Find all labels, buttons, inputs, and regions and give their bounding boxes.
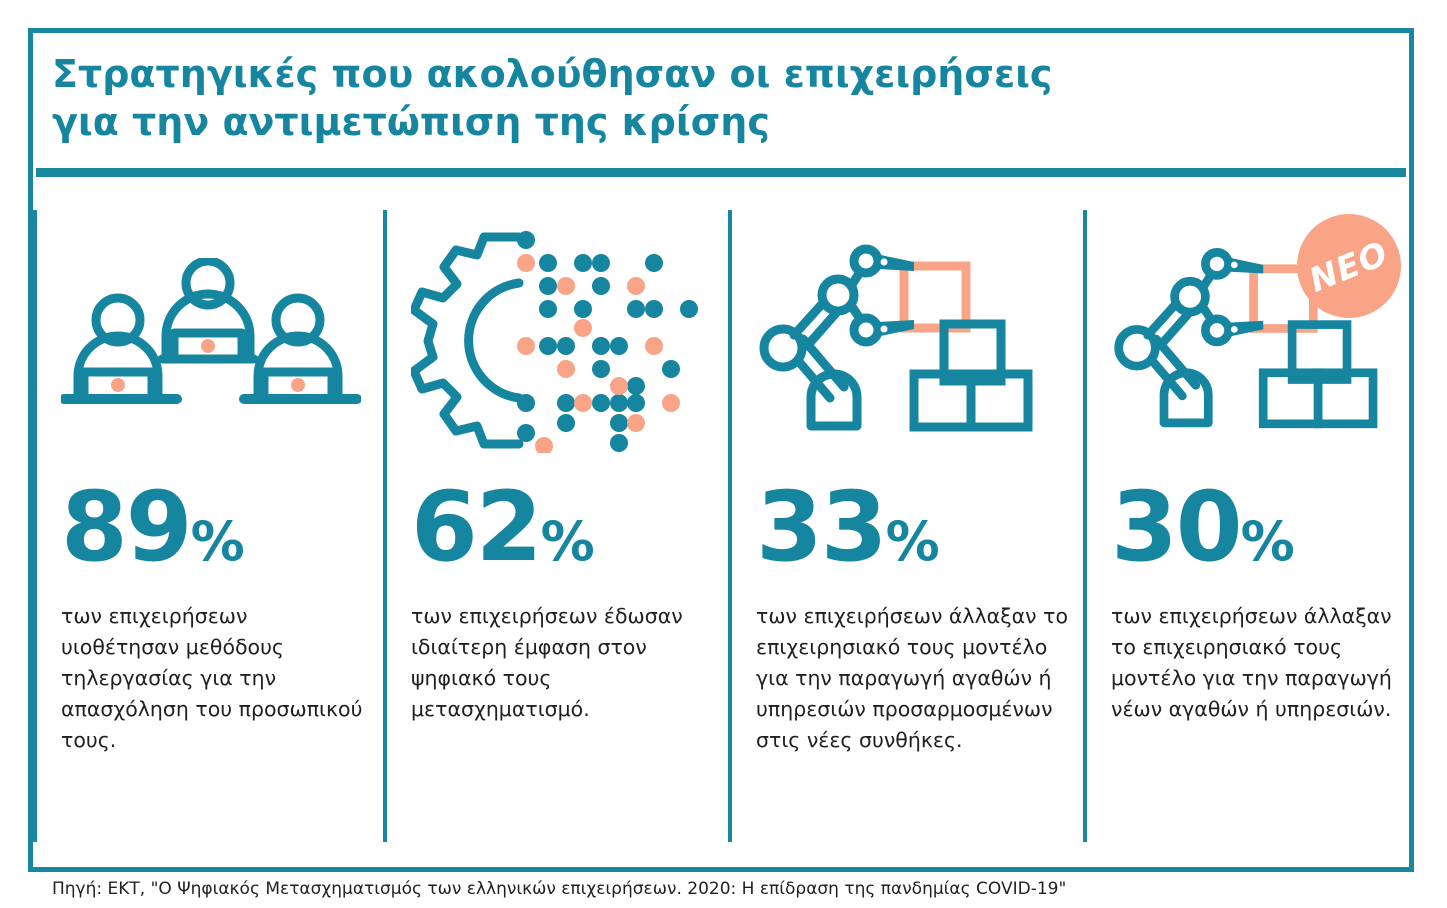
column-divider [1083,210,1087,842]
stat-caption: των επιχειρήσεων υιοθέτησαν μεθόδους τηλ… [61,601,369,756]
infographic-page: Στρατηγικές που ακολούθησαν οι επιχειρήσ… [0,0,1447,908]
stat-number: 62 [411,471,541,583]
column-divider [383,210,387,842]
statistics-columns: 89% των επιχειρήσεων υιοθέτησαν μεθόδους… [33,205,1414,845]
stat-number: 33 [756,471,886,583]
people-with-laptops-icon [61,205,369,475]
source-note: Πηγή: ΕΚΤ, "Ο Ψηφιακός Μετασχηματισμός τ… [52,879,1066,899]
title-line-2: για την αντιμετώπιση της κρίσης [52,98,1052,146]
stat-caption: των επιχειρήσεων άλλαξαν το επιχειρησιακ… [1111,601,1400,725]
stat-number: 89 [61,471,191,583]
neo-badge: ΝΕΟ [1297,214,1401,318]
robot-arm-stacking-boxes-new-icon: ΝΕΟ [1111,205,1400,475]
stat-percent-sign: % [541,510,594,573]
title-underline-rule [36,168,1406,177]
stat-percent-sign: % [1241,510,1294,573]
gear-dissolving-into-dots-icon [411,205,714,475]
stat-value: 30% [1111,479,1400,575]
stat-caption: των επιχειρήσεων έδωσαν ιδιαίτερη έμφαση… [411,601,714,725]
stat-value: 89% [61,479,369,575]
stat-column-new-goods: ΝΕΟ [1083,205,1414,845]
stat-number: 30 [1111,471,1241,583]
stat-percent-sign: % [886,510,939,573]
robot-arm-stacking-boxes-icon [756,205,1069,475]
column-divider [33,210,37,842]
neo-badge-label: ΝΕΟ [1304,233,1394,300]
stat-value: 62% [411,479,714,575]
stat-column-adapted-model: 33% των επιχειρήσεων άλλαξαν το επιχειρη… [728,205,1083,845]
stat-value: 33% [756,479,1069,575]
stat-column-telework: 89% των επιχειρήσεων υιοθέτησαν μεθόδους… [33,205,383,845]
column-divider [728,210,732,842]
page-title: Στρατηγικές που ακολούθησαν οι επιχειρήσ… [52,50,1052,146]
stat-column-digital-transformation: 62% των επιχειρήσεων έδωσαν ιδιαίτερη έμ… [383,205,728,845]
stat-percent-sign: % [191,510,244,573]
title-line-1: Στρατηγικές που ακολούθησαν οι επιχειρήσ… [52,50,1052,98]
stat-caption: των επιχειρήσεων άλλαξαν το επιχειρησιακ… [756,601,1069,756]
